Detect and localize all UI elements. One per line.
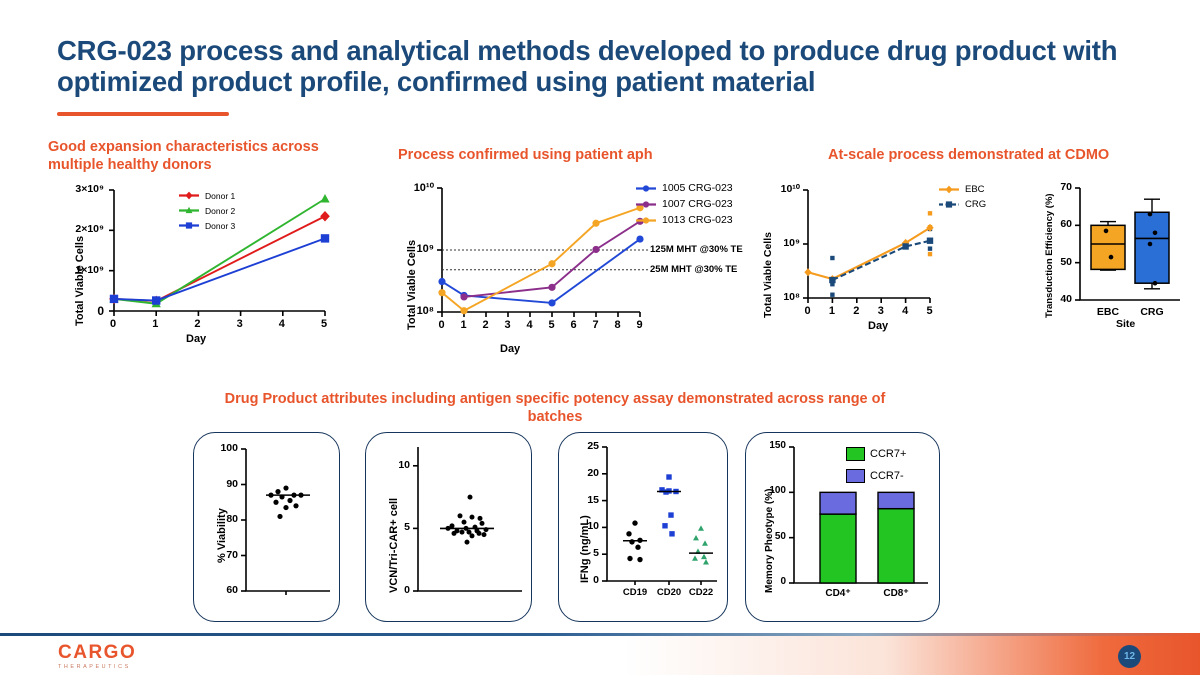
axis-tick-label: 150 — [764, 440, 786, 451]
legend-swatch-icon — [635, 199, 657, 210]
axis-tick-label: 10¹⁰ — [406, 181, 434, 194]
card-vcn: VCN/Tri-CAR+ cell 0510 — [365, 432, 532, 622]
chart-donor-expansion: Total Viable Cells Day Donor 1Donor 2Don… — [60, 178, 340, 348]
chart8-legend: CCR7+CCR7- — [846, 447, 906, 491]
axis-tick-label: 1 — [829, 305, 835, 317]
axis-tick-label: 3×10⁹ — [66, 183, 104, 195]
axis-tick-label: 6 — [571, 319, 577, 331]
axis-tick-label: 1 — [152, 318, 158, 330]
axis-tick-label: 50 — [764, 531, 786, 542]
axis-tick-label: 5 — [549, 319, 555, 331]
legend-item: 1013 CRG-023 — [635, 214, 733, 226]
axis-tick-label: 5 — [927, 305, 933, 317]
section-header-expansion: Good expansion characteristics across mu… — [48, 138, 348, 174]
axis-tick-label: 100 — [214, 442, 238, 454]
legend-item: 1005 CRG-023 — [635, 182, 733, 194]
legend-label: Donor 3 — [205, 221, 235, 231]
chart1-y-title: Total Viable Cells — [74, 236, 86, 326]
legend-label: Donor 2 — [205, 206, 235, 216]
axis-tick-label: 50 — [1054, 256, 1072, 268]
axis-tick-label: 4 — [279, 318, 285, 330]
axis-tick-label: 0 — [110, 318, 116, 330]
axis-tick-label: 60 — [214, 584, 238, 596]
axis-tick-label: 1 — [461, 319, 467, 331]
axis-tick-label: 10⁸ — [406, 305, 434, 317]
axis-tick-label: 3 — [505, 319, 511, 331]
axis-tick-label: 7 — [593, 319, 599, 331]
reference-line-label: 125M MHT @30% TE — [650, 244, 743, 255]
axis-tick-label: 70 — [1054, 181, 1072, 193]
axis-tick-label: 10⁸ — [772, 291, 800, 303]
axis-tick-label: 5 — [579, 547, 599, 559]
legend-item: Donor 1 — [178, 190, 235, 201]
logo-tagline: THERAPEUTICS — [58, 664, 136, 670]
chart1-legend: Donor 1Donor 2Donor 3 — [178, 190, 235, 235]
section-header-patient-aph: Process confirmed using patient aph — [398, 146, 728, 164]
legend-item: Donor 3 — [178, 220, 235, 231]
axis-tick-label: CD4⁺ — [818, 588, 858, 599]
axis-tick-label: 4 — [902, 305, 908, 317]
legend-item: CCR7- — [846, 469, 906, 483]
section-header-drug-product: Drug Product attributes including antige… — [215, 390, 895, 426]
axis-tick-label: CD20 — [653, 587, 685, 598]
axis-tick-label: CD8⁺ — [876, 588, 916, 599]
card-viability: % Viability 60708090100 — [193, 432, 340, 622]
legend-swatch-icon — [178, 205, 200, 216]
axis-tick-label: 3 — [878, 305, 884, 317]
legend-label: 1005 CRG-023 — [662, 182, 733, 194]
cargo-logo: CARGO THERAPEUTICS — [58, 643, 136, 670]
legend-label: EBC — [965, 184, 985, 195]
page-title: CRG-023 process and analytical methods d… — [57, 36, 1147, 98]
legend-label: 1013 CRG-023 — [662, 214, 733, 226]
axis-tick-label: 40 — [1054, 293, 1072, 305]
chart3-x-title: Day — [868, 320, 888, 332]
slide-root: CRG-023 process and analytical methods d… — [0, 0, 1200, 675]
axis-tick-label: 5 — [321, 318, 327, 330]
legend-label: CRG — [965, 199, 986, 210]
legend-swatch-icon — [635, 215, 657, 226]
legend-item: CRG — [938, 199, 986, 210]
reference-line-label: 25M MHT @30% TE — [650, 264, 737, 275]
axis-tick-label: 0 — [439, 319, 445, 331]
axis-tick-label: 10⁹ — [772, 237, 800, 249]
axis-tick-label: 0 — [96, 304, 104, 318]
legend-swatch-icon — [178, 190, 200, 201]
axis-tick-label: 80 — [214, 513, 238, 525]
axis-tick-label: 9 — [637, 319, 643, 331]
legend-swatch-icon — [938, 199, 960, 210]
axis-tick-label: 2 — [853, 305, 859, 317]
axis-tick-label: 0 — [805, 305, 811, 317]
card-memory-phenotype: Memory Pheotype (%) CCR7+CCR7- 050100150… — [745, 432, 940, 622]
axis-tick-label: 10 — [579, 520, 599, 532]
chart2-x-title: Day — [500, 343, 520, 355]
legend-swatch-icon — [635, 183, 657, 194]
axis-tick-label: 8 — [615, 319, 621, 331]
chart-transduction-efficiency: Transduction Efficiency (%) Site 4050607… — [1040, 178, 1190, 343]
legend-label: Donor 1 — [205, 191, 235, 201]
legend-label: 1007 CRG-023 — [662, 198, 733, 210]
axis-tick-label: 90 — [214, 478, 238, 490]
legend-swatch-icon — [178, 220, 200, 231]
legend-swatch-icon — [938, 184, 960, 195]
axis-tick-label: 20 — [579, 467, 599, 479]
axis-tick-label: 15 — [579, 494, 599, 506]
axis-tick-label: 0 — [764, 576, 786, 587]
axis-tick-label: 2 — [483, 319, 489, 331]
axis-tick-label: CRG — [1139, 306, 1165, 318]
axis-tick-label: 5 — [390, 521, 410, 533]
axis-tick-label: CD19 — [619, 587, 651, 598]
axis-tick-label: 60 — [1054, 218, 1072, 230]
chart3-legend: EBCCRG — [938, 184, 986, 214]
chart2-legend: 1005 CRG-0231007 CRG-0231013 CRG-023 — [635, 182, 733, 230]
axis-tick-label: 10⁹ — [406, 243, 434, 255]
axis-tick-label: 100 — [764, 485, 786, 496]
axis-tick-label: 0 — [579, 574, 599, 586]
axis-tick-label: 4 — [527, 319, 533, 331]
title-underline — [57, 112, 229, 116]
legend-item: CCR7+ — [846, 447, 906, 461]
axis-tick-label: 2×10⁹ — [66, 223, 104, 235]
chart-at-scale-cdmo: Total Viable Cells Day EBCCRG 01234510⁸1… — [760, 178, 1030, 343]
legend-item: EBC — [938, 184, 986, 195]
chart3-plot — [760, 178, 1030, 343]
chart1-x-title: Day — [186, 333, 206, 345]
logo-wordmark: CARGO — [58, 643, 136, 662]
legend-swatch-icon — [846, 469, 865, 483]
axis-tick-label: 70 — [214, 549, 238, 561]
axis-tick-label: 1×10⁹ — [66, 264, 104, 276]
legend-item: 1007 CRG-023 — [635, 198, 733, 210]
footer-bar — [0, 636, 1200, 675]
chart4-x-title: Site — [1116, 318, 1135, 330]
axis-tick-label: CD22 — [685, 587, 717, 598]
legend-item: Donor 2 — [178, 205, 235, 216]
axis-tick-label: 25 — [579, 440, 599, 452]
chart-patient-aph: Total Viable Cells Day 1005 CRG-0231007 … — [400, 178, 750, 358]
axis-tick-label: EBC — [1095, 306, 1121, 318]
legend-label: CCR7- — [870, 470, 904, 482]
section-header-cdmo: At-scale process demonstrated at CDMO — [828, 146, 1168, 164]
legend-swatch-icon — [846, 447, 865, 461]
axis-tick-label: 10¹⁰ — [772, 183, 800, 195]
axis-tick-label: 0 — [390, 584, 410, 596]
legend-label: CCR7+ — [870, 448, 906, 460]
card-ifng: IFNg (ng/mL) 0510152025CD19CD20CD22 — [558, 432, 728, 622]
page-number-badge: 12 — [1118, 645, 1141, 668]
axis-tick-label: 3 — [237, 318, 243, 330]
axis-tick-label: 10 — [390, 459, 410, 471]
axis-tick-label: 2 — [194, 318, 200, 330]
chart6-y-title: VCN/Tri-CAR+ cell — [388, 498, 400, 593]
